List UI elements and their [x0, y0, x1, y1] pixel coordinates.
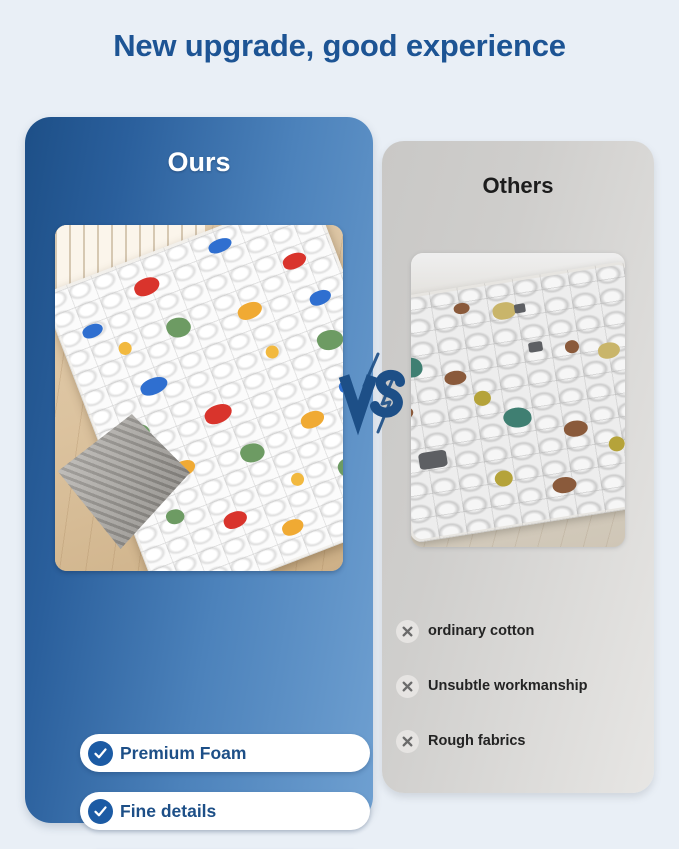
feature-label: Fine details: [120, 801, 216, 822]
others-heading: Others: [382, 173, 654, 199]
page-title: New upgrade, good experience: [0, 28, 679, 64]
plant-motif: [164, 506, 186, 526]
dino-motif-red: [221, 508, 249, 532]
drawback-label: ordinary cotton: [428, 623, 534, 639]
ours-panel: Ours: [25, 117, 373, 823]
drawback-label: Rough fabrics: [428, 733, 525, 749]
animal-motif-brown: [443, 369, 467, 386]
x-icon: [396, 675, 419, 698]
feature-pill-fine-details[interactable]: Fine details: [80, 792, 370, 830]
x-icon: [396, 620, 419, 643]
dino-motif-yellow: [299, 408, 327, 432]
others-product-photo: [411, 253, 625, 547]
animal-motif-brown: [453, 302, 471, 315]
drawback-label: Unsubtle workmanship: [428, 678, 588, 694]
others-photo-scene: [411, 253, 625, 547]
check-icon: [88, 799, 113, 824]
fruit-motif-olive: [473, 390, 492, 407]
others-panel: Others: [382, 141, 654, 793]
ours-heading: Ours: [25, 147, 373, 178]
animal-motif-dark: [514, 303, 526, 314]
dino-motif-red: [281, 250, 309, 273]
animal-motif-brown: [563, 419, 589, 439]
x-icon: [396, 730, 419, 753]
drawback-row-rough-fabrics[interactable]: Rough fabrics: [396, 728, 646, 754]
dino-motif-yellow: [235, 299, 264, 323]
plain-mattress-pad: [411, 260, 625, 543]
plant-motif: [335, 453, 343, 481]
drawback-row-ordinary-cotton[interactable]: ordinary cotton: [396, 618, 646, 644]
animal-motif-brown: [411, 406, 414, 420]
fruit-motif-olive: [608, 435, 625, 452]
animal-motif-tan: [597, 341, 621, 360]
animal-motif-brown: [564, 339, 580, 354]
tree-motif-teal: [411, 356, 424, 380]
dino-motif-blue: [207, 235, 234, 256]
drawback-row-unsubtle-workmanship[interactable]: Unsubtle workmanship: [396, 673, 646, 699]
dino-motif-blue: [81, 321, 105, 341]
plant-motif: [164, 314, 194, 341]
plant-motif: [315, 326, 343, 354]
ours-photo-scene: [55, 225, 343, 571]
plant-motif: [238, 440, 267, 466]
dino-motif-red: [202, 400, 235, 427]
sun-motif: [117, 340, 134, 357]
tree-motif-teal: [502, 406, 533, 430]
others-drawback-list: ordinary cotton Unsubtle workmanship Rou…: [396, 618, 646, 783]
animal-motif-brown: [551, 475, 577, 495]
dino-motif-blue: [308, 287, 334, 308]
dino-motif-red: [132, 274, 162, 299]
animal-motif-dark: [418, 449, 448, 470]
feature-pill-premium-foam[interactable]: Premium Foam: [80, 734, 370, 772]
dino-motif-yellow: [280, 516, 306, 538]
feature-label: Premium Foam: [120, 743, 246, 764]
sun-motif: [264, 344, 281, 361]
animal-motif-dark: [528, 341, 543, 353]
vs-badge: VS: [338, 352, 410, 442]
ours-product-photo: [55, 225, 343, 571]
dino-motif-blue: [138, 374, 170, 399]
check-icon: [88, 741, 113, 766]
fruit-motif-olive: [494, 469, 514, 488]
sun-motif: [289, 471, 306, 488]
ours-feature-list: Premium Foam Fine details soft microfibe…: [80, 734, 370, 849]
